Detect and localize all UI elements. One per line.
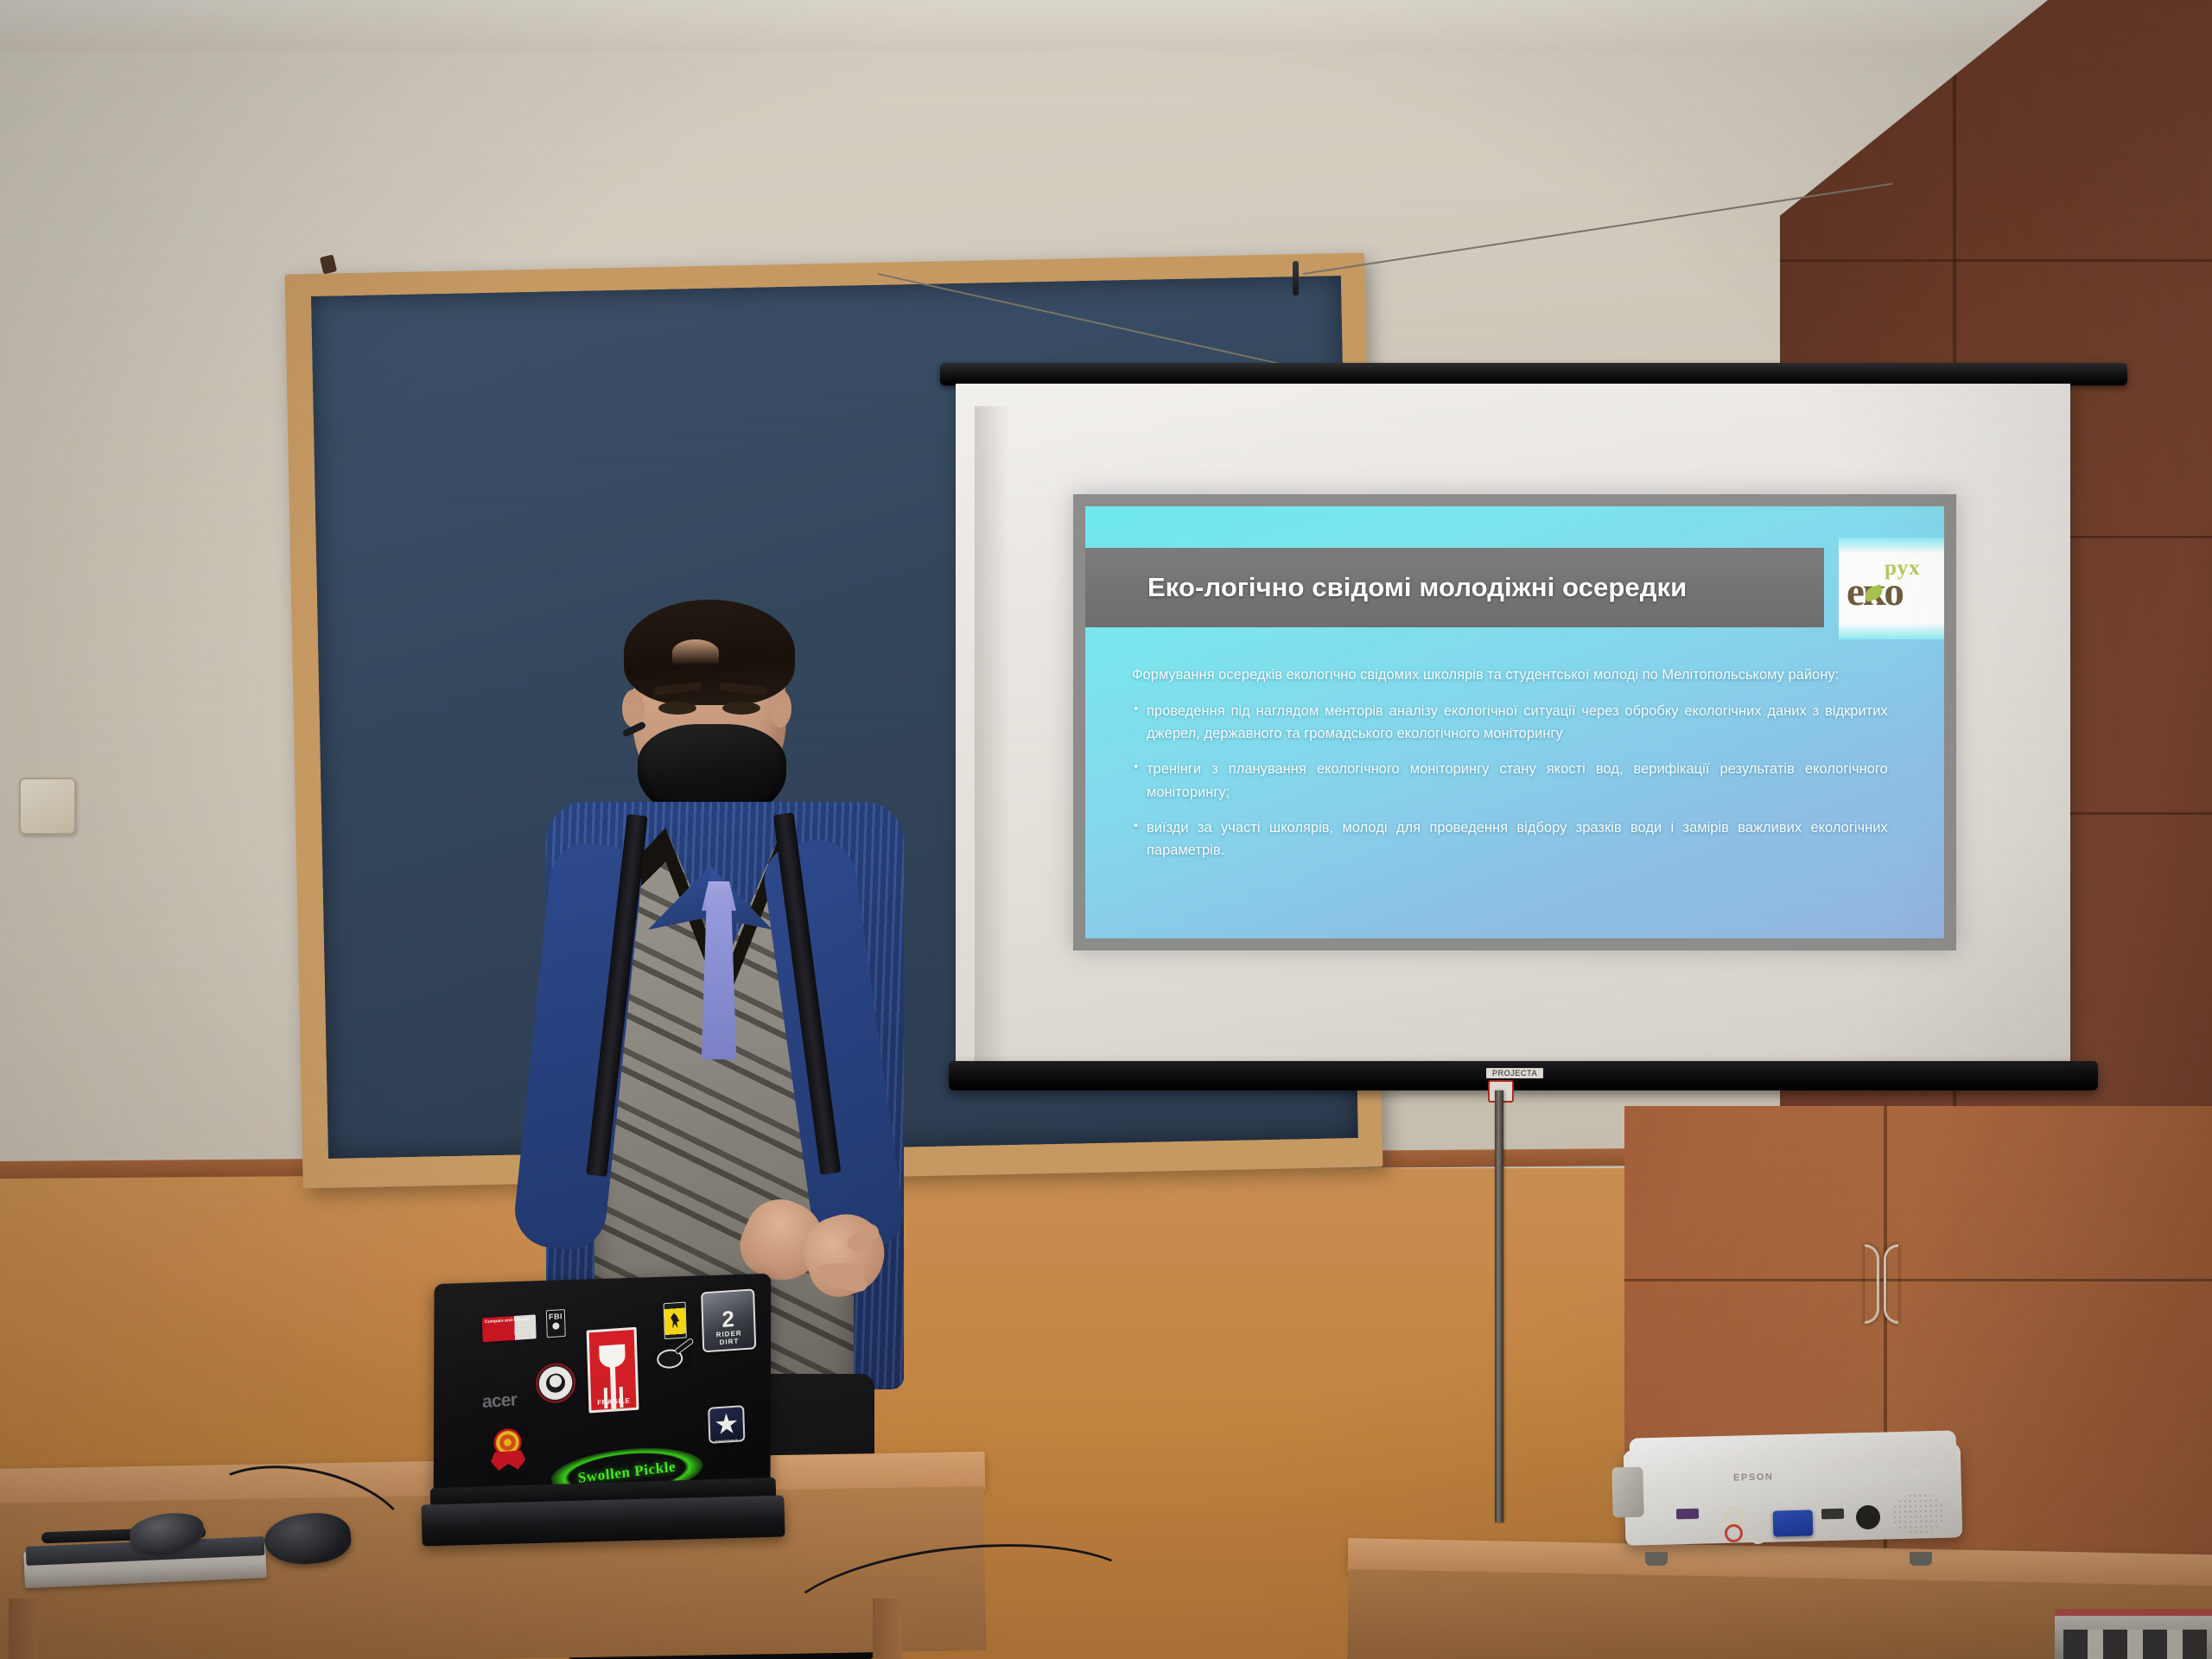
frying-pan-sticker (657, 1343, 689, 1365)
slide-bullet: тренінги з планування екологічного моніт… (1132, 758, 1888, 804)
slide-title-bar: Еко-логічно свідомі молодіжні осередки (1085, 548, 1824, 627)
screen-brand-label: PROJECTA (1486, 1068, 1543, 1078)
slide-bullet: проведення під наглядом менторів аналізу… (1132, 700, 1888, 746)
fragile-sticker: FRAGILE (587, 1327, 639, 1414)
hair (624, 600, 795, 705)
cabinet-handle-right[interactable] (1884, 1244, 1898, 1324)
rider-sticker-number: 2 (703, 1309, 754, 1331)
slide-title: Еко-логічно свідомі молодіжні осередки (1085, 572, 1687, 603)
eko-ruh-logo: еко рух (1839, 537, 1944, 639)
converse-sticker-text: converse (709, 1438, 745, 1446)
compare-and-choose-sticker: Compare and Choose (482, 1314, 537, 1342)
rider-dirt-sticker: 2 RIDER DIRT (701, 1288, 756, 1352)
skull-target-sticker (490, 1427, 526, 1475)
broken-glass-icon (599, 1344, 626, 1396)
slide-bullet-list: проведення під наглядом менторів аналізу… (1132, 700, 1888, 862)
slide-body: Формування осередків екологічно свідомих… (1132, 664, 1888, 874)
prancing-horse-icon (671, 1313, 680, 1329)
fbi-sticker: FBI (546, 1309, 566, 1338)
slide-intro-paragraph: Формування осередків екологічно свідомих… (1132, 664, 1888, 687)
slide-bullet: виїзди за участі школярів, молоді для пр… (1132, 817, 1888, 862)
screen-hook (1293, 261, 1299, 296)
vga-cable-connector[interactable] (1773, 1510, 1814, 1536)
light-switch[interactable] (19, 778, 76, 835)
screen-canvas: Еко-логічно свідомі молодіжні осередки е… (956, 384, 2070, 1066)
tripod-stand (1495, 1090, 1503, 1522)
projector-foot (1645, 1552, 1668, 1566)
left-desk-leg (9, 1599, 38, 1659)
fbi-sticker-text: FBI (549, 1312, 563, 1321)
fbi-sticker-dot (552, 1322, 559, 1330)
panda-roundel-sticker (535, 1362, 575, 1404)
usb-port[interactable] (1676, 1509, 1699, 1520)
fragile-sticker-text: FRAGILE (597, 1396, 630, 1407)
eye-right (722, 702, 760, 715)
projector-lens (1611, 1467, 1643, 1518)
chair[interactable] (2055, 1609, 2212, 1659)
projector[interactable]: EPSON (1624, 1427, 1961, 1566)
acer-logo: acer (482, 1389, 518, 1413)
laptop-base[interactable] (421, 1496, 785, 1547)
crossbones-icon (491, 1450, 526, 1471)
screen-top-bar (940, 363, 2127, 385)
slide-background: Еко-логічно свідомі молодіжні осередки е… (1085, 506, 1944, 938)
projection-screen: Еко-логічно свідомі молодіжні осередки е… (940, 363, 2127, 1123)
logo-sub-text: рух (1885, 556, 1921, 581)
hdmi-port[interactable] (1821, 1509, 1844, 1520)
screen-fabric-fold (975, 406, 1009, 1085)
cabinet-handle-left[interactable] (1865, 1244, 1879, 1324)
projector-foot (1910, 1552, 1932, 1566)
epson-logo: EPSON (1733, 1471, 1774, 1483)
photo-scene: Еко-логічно свідомі молодіжні осередки е… (0, 0, 2212, 1659)
laptop[interactable]: acer Compare and Choose FBI FRAGILE 2 (422, 1279, 785, 1564)
ferrari-sticker (664, 1301, 687, 1339)
presentation-slide: Еко-логічно свідомі молодіжні осередки е… (1073, 494, 1956, 950)
eye-left (658, 702, 696, 715)
ceiling (0, 0, 2212, 52)
star-icon (715, 1413, 738, 1437)
laptop-lid: acer Compare and Choose FBI FRAGILE 2 (434, 1274, 772, 1502)
